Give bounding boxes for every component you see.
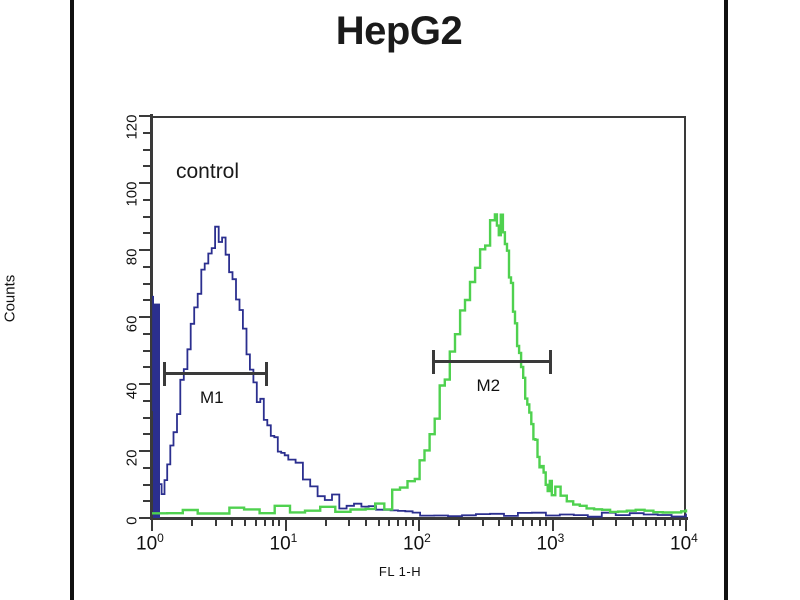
gate-cap-right[interactable]: [265, 362, 268, 386]
gate-cap-left[interactable]: [432, 350, 435, 374]
trace-sample: [152, 214, 686, 513]
gate-cap-left[interactable]: [163, 362, 166, 386]
offscale-spike-bar: [153, 304, 160, 518]
gate-bar: [163, 372, 265, 375]
histogram-traces: [0, 0, 800, 600]
control-annotation: control: [176, 160, 239, 184]
gate-label: M2: [477, 376, 501, 396]
gate-bar: [432, 360, 549, 363]
gate-label: M1: [200, 388, 224, 408]
gate-cap-right[interactable]: [549, 350, 552, 374]
